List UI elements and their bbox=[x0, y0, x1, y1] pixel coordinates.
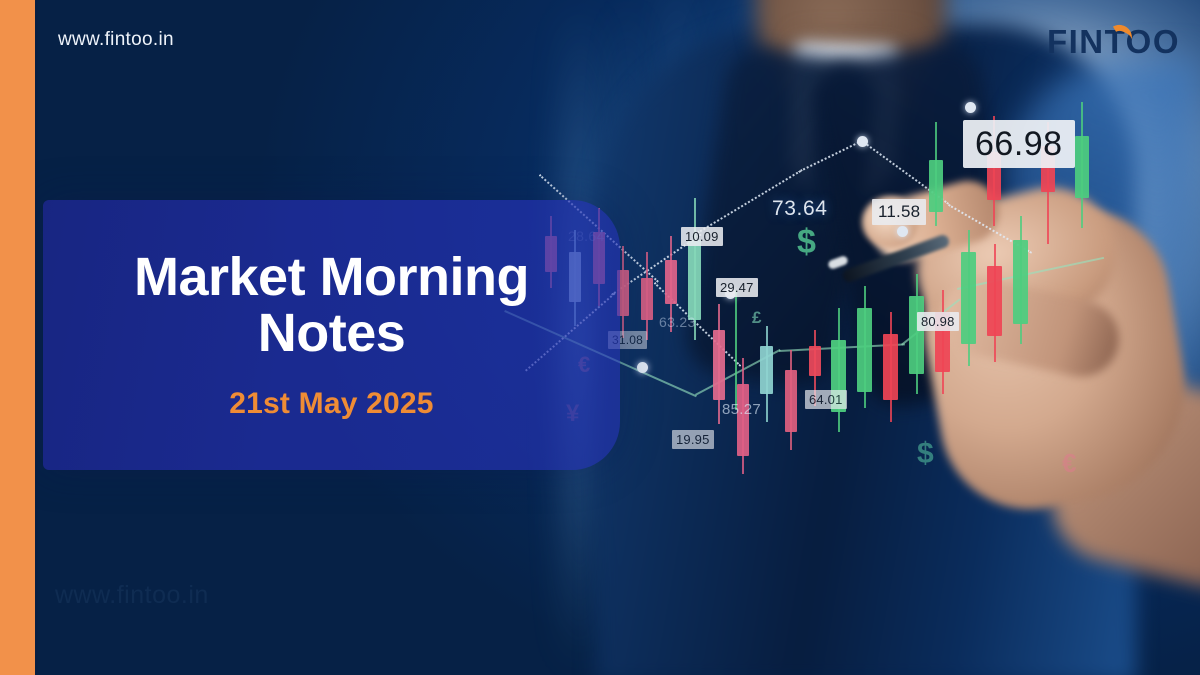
poster-canvas: 66.98 11.58 73.64 10.09 29.47 31.08 28.6… bbox=[0, 0, 1200, 675]
left-accent-bar-shadow bbox=[35, 0, 39, 675]
fintoo-logo[interactable]: FINTOO bbox=[1047, 22, 1180, 62]
publication-date: 21st May 2025 bbox=[229, 387, 433, 421]
euro-sign-icon: € bbox=[1062, 448, 1076, 479]
footer-watermark: www.fintoo.in bbox=[55, 581, 209, 610]
left-accent-bar bbox=[0, 0, 35, 675]
stylus-pen-tip bbox=[827, 255, 849, 270]
title-card: Market Morning Notes 21st May 2025 bbox=[43, 200, 620, 470]
site-url-text[interactable]: www.fintoo.in bbox=[58, 29, 174, 51]
fingertip bbox=[862, 196, 918, 248]
page-title: Market Morning Notes bbox=[112, 249, 552, 361]
